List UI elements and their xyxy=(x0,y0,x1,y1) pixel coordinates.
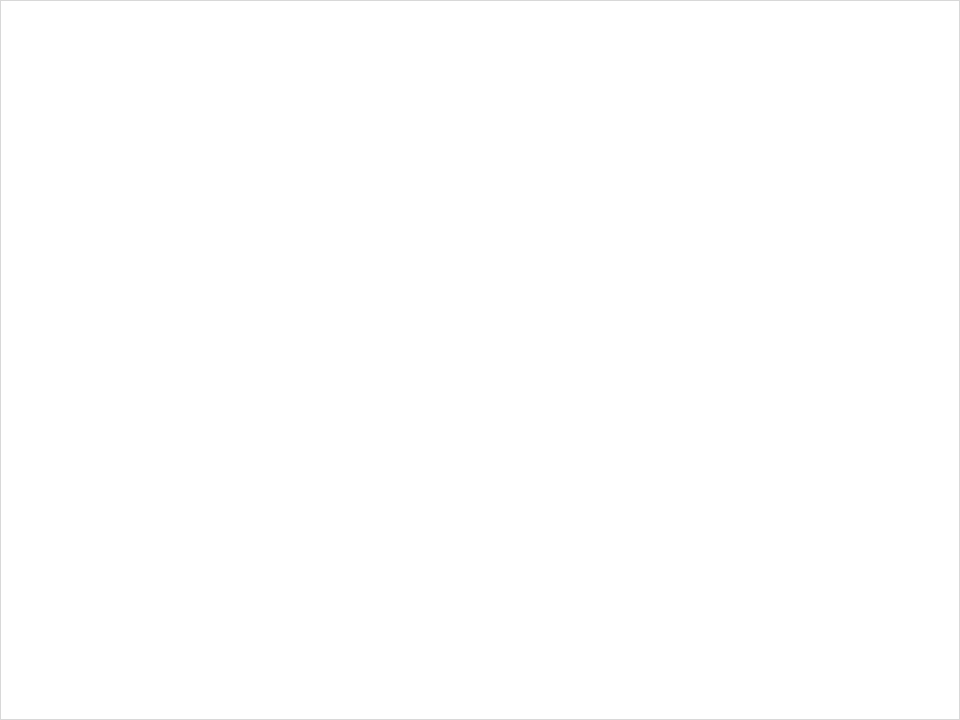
timeline-diagram xyxy=(0,0,960,720)
timeline-vector-layer xyxy=(1,1,960,720)
